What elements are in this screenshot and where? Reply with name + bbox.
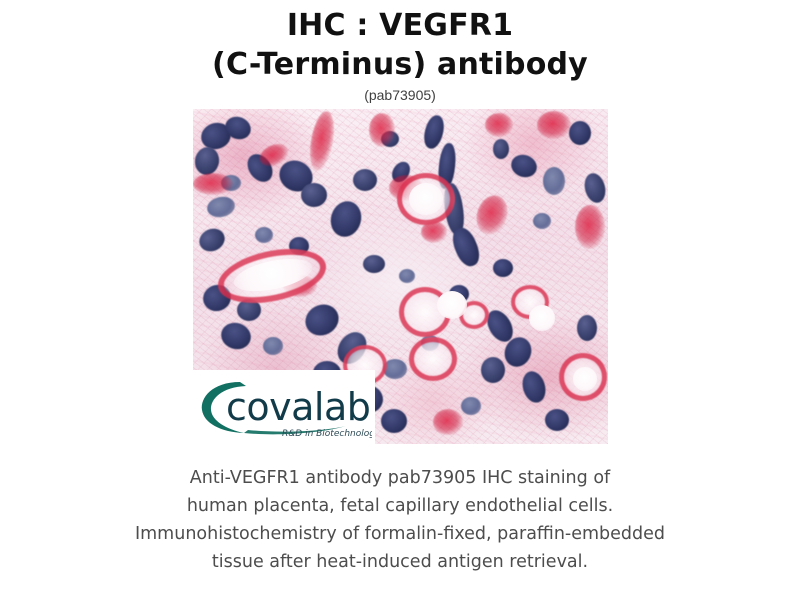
red-chromogen-stain [575,205,605,249]
nucleus [326,198,365,241]
covalab-logo: covalab R&D in Biotechnology [193,370,375,444]
caption-line: human placenta, fetal capillary endothel… [80,492,720,520]
vessel-lumen [437,291,467,319]
covalab-logo-svg: covalab R&D in Biotechnology [196,374,372,440]
red-chromogen-stain [537,111,571,139]
nucleus [493,259,513,277]
nucleus [263,337,283,355]
caption-line: Anti-VEGFR1 antibody pab73905 IHC staini… [80,464,720,492]
vessel-lumen [409,183,443,215]
ihc-figure: IHC : VEGFR1 (C-Terminus) antibody (pab7… [0,0,800,600]
red-chromogen-stain [433,409,463,435]
nucleus [569,121,591,145]
nucleus [299,299,343,341]
nucleus [421,113,447,150]
page-title-line-1: IHC : VEGFR1 [0,6,800,45]
nucleus [205,194,237,219]
nucleus [461,397,481,415]
nucleus [519,369,549,406]
vessel-lumen [529,305,555,331]
nucleus [353,169,377,191]
nucleus [217,319,254,353]
red-chromogen-stain [305,110,337,173]
capillary-lumen-ring [409,337,457,381]
nucleus [493,139,509,159]
covalab-wordmark: covalab [226,385,370,429]
caption-line: Immunohistochemistry of formalin-fixed, … [80,520,720,548]
nucleus [363,255,385,273]
nucleus [448,224,483,269]
nucleus [533,213,551,229]
catalog-number: (pab73905) [0,86,800,104]
nucleus [381,409,407,433]
nucleus [193,145,221,177]
page-title-line-2: (C-Terminus) antibody [0,45,800,85]
nucleus [481,357,505,383]
nucleus [255,227,273,243]
caption-line: tissue after heat-induced antigen retrie… [80,548,720,576]
nucleus [545,409,569,431]
figure-caption: Anti-VEGFR1 antibody pab73905 IHC staini… [80,464,720,576]
red-chromogen-stain [485,113,513,137]
covalab-tagline: R&D in Biotechnology [282,429,372,439]
nucleus [508,151,540,181]
red-chromogen-stain [193,173,233,195]
vessel-lumen [573,367,597,391]
micrograph-container: covalab R&D in Biotechnology [193,109,608,444]
nucleus [301,183,327,207]
nucleus [581,171,607,205]
nucleus [399,269,415,283]
nucleus [195,225,228,256]
nucleus [577,315,597,341]
red-chromogen-stain [471,191,512,238]
red-chromogen-stain [369,113,395,147]
nucleus [543,167,565,195]
title-block: IHC : VEGFR1 (C-Terminus) antibody (pab7… [0,0,800,104]
